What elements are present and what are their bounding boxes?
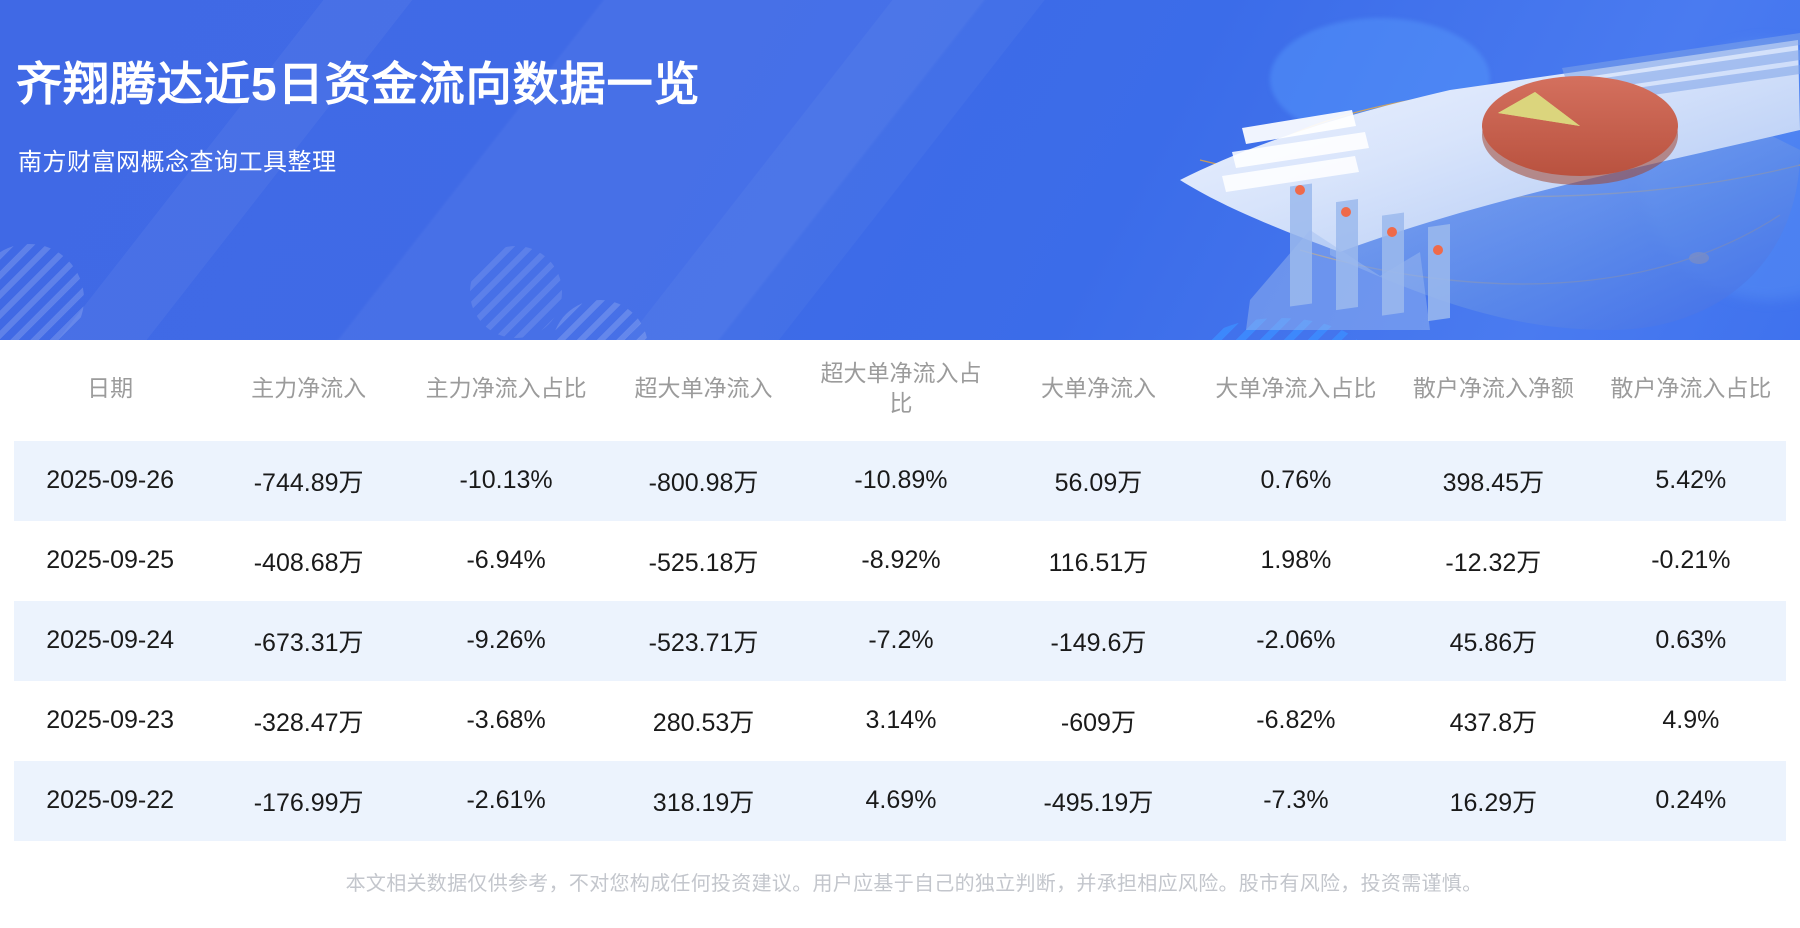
cell-main-pct: -2.61% (411, 761, 601, 841)
cell-date: 2025-09-26 (14, 441, 206, 521)
cell-lg-pct: 0.76% (1201, 441, 1391, 521)
cell-retail-pct: 0.24% (1596, 761, 1786, 841)
cell-retail-pct: -0.21% (1596, 521, 1786, 601)
cell-xl-pct: 4.69% (806, 761, 996, 841)
disclaimer-text: 本文相关数据仅供参考，不对您构成任何投资建议。用户应基于自己的独立判断，并承担相… (14, 841, 1800, 896)
table-row: 2025-09-26 -744.89万 -10.13% -800.98万 -10… (14, 441, 1786, 521)
striped-circle-left-icon (0, 244, 84, 340)
cell-lg-net: 56.09万 (996, 441, 1201, 521)
cell-date: 2025-09-25 (14, 521, 206, 601)
page-title: 齐翔腾达近5日资金流向数据一览 (16, 48, 701, 114)
cell-retail-net: 45.86万 (1391, 601, 1596, 681)
cell-lg-net: -495.19万 (996, 761, 1201, 841)
cell-lg-pct: -6.82% (1201, 681, 1391, 761)
cell-xl-net: -800.98万 (601, 441, 806, 521)
column-header-xl-net: 超大单净流入 (601, 340, 806, 441)
cell-lg-pct: -7.3% (1201, 761, 1391, 841)
striped-circle-mid-icon (470, 246, 562, 338)
cell-retail-pct: 4.9% (1596, 681, 1786, 761)
page-subtitle: 南方财富网概念查询工具整理 (18, 142, 337, 177)
table-header-row: 日期 主力净流入 主力净流入占比 超大单净流入 超大单净流入占比 大单净流入 大… (14, 340, 1786, 441)
cell-xl-net: 280.53万 (601, 681, 806, 761)
cell-date: 2025-09-22 (14, 761, 206, 841)
column-header-date: 日期 (14, 340, 206, 441)
column-header-lg-net: 大单净流入 (996, 340, 1201, 441)
page-banner: 齐翔腾达近5日资金流向数据一览 南方财富网概念查询工具整理 (0, 0, 1800, 340)
cell-lg-net: 116.51万 (996, 521, 1201, 601)
cell-main-pct: -9.26% (411, 601, 601, 681)
fund-flow-table: 日期 主力净流入 主力净流入占比 超大单净流入 超大单净流入占比 大单净流入 大… (14, 340, 1786, 841)
table-row: 2025-09-23 -328.47万 -3.68% 280.53万 3.14%… (14, 681, 1786, 761)
table-row: 2025-09-22 -176.99万 -2.61% 318.19万 4.69%… (14, 761, 1786, 841)
cell-retail-net: 437.8万 (1391, 681, 1596, 761)
cell-main-net: -176.99万 (206, 761, 411, 841)
cell-main-net: -673.31万 (206, 601, 411, 681)
column-header-main-net: 主力净流入 (206, 340, 411, 441)
cell-lg-net: -609万 (996, 681, 1201, 761)
striped-circle-blue-icon (1190, 318, 1370, 340)
cell-xl-pct: -10.89% (806, 441, 996, 521)
column-header-main-pct: 主力净流入占比 (411, 340, 601, 441)
cell-main-net: -408.68万 (206, 521, 411, 601)
cell-lg-pct: -2.06% (1201, 601, 1391, 681)
cell-retail-net: 398.45万 (1391, 441, 1596, 521)
cell-lg-net: -149.6万 (996, 601, 1201, 681)
cell-retail-net: -12.32万 (1391, 521, 1596, 601)
cell-xl-net: -525.18万 (601, 521, 806, 601)
column-header-retail-pct: 散户净流入占比 (1596, 340, 1786, 441)
cell-retail-pct: 5.42% (1596, 441, 1786, 521)
bar-chart-icon (1246, 183, 1450, 330)
cell-xl-net: 318.19万 (601, 761, 806, 841)
cell-date: 2025-09-24 (14, 601, 206, 681)
cell-date: 2025-09-23 (14, 681, 206, 761)
cell-xl-pct: 3.14% (806, 681, 996, 761)
cell-retail-pct: 0.63% (1596, 601, 1786, 681)
banner-blob-upper (1270, 18, 1490, 140)
cell-main-pct: -6.94% (411, 521, 601, 601)
cell-main-pct: -3.68% (411, 681, 601, 761)
cell-main-net: -744.89万 (206, 441, 411, 521)
cell-retail-net: 16.29万 (1391, 761, 1596, 841)
cell-lg-pct: 1.98% (1201, 521, 1391, 601)
cell-xl-pct: -7.2% (806, 601, 996, 681)
column-header-retail-net: 散户净流入净额 (1391, 340, 1596, 441)
cell-xl-net: -523.71万 (601, 601, 806, 681)
cell-main-pct: -10.13% (411, 441, 601, 521)
table-row: 2025-09-24 -673.31万 -9.26% -523.71万 -7.2… (14, 601, 1786, 681)
table-row: 2025-09-25 -408.68万 -6.94% -525.18万 -8.9… (14, 521, 1786, 601)
cell-xl-pct: -8.92% (806, 521, 996, 601)
banner-blob-right (1640, 40, 1800, 300)
fund-flow-table-container: Southmoney.com 南方财富网 日期 主力净流入 主力净流入占比 超大… (0, 340, 1800, 840)
bar-top-dots (1295, 185, 1443, 255)
column-header-lg-pct: 大单净流入占比 (1201, 340, 1391, 441)
cell-main-net: -328.47万 (206, 681, 411, 761)
column-header-xl-pct: 超大单净流入占比 (806, 340, 996, 441)
